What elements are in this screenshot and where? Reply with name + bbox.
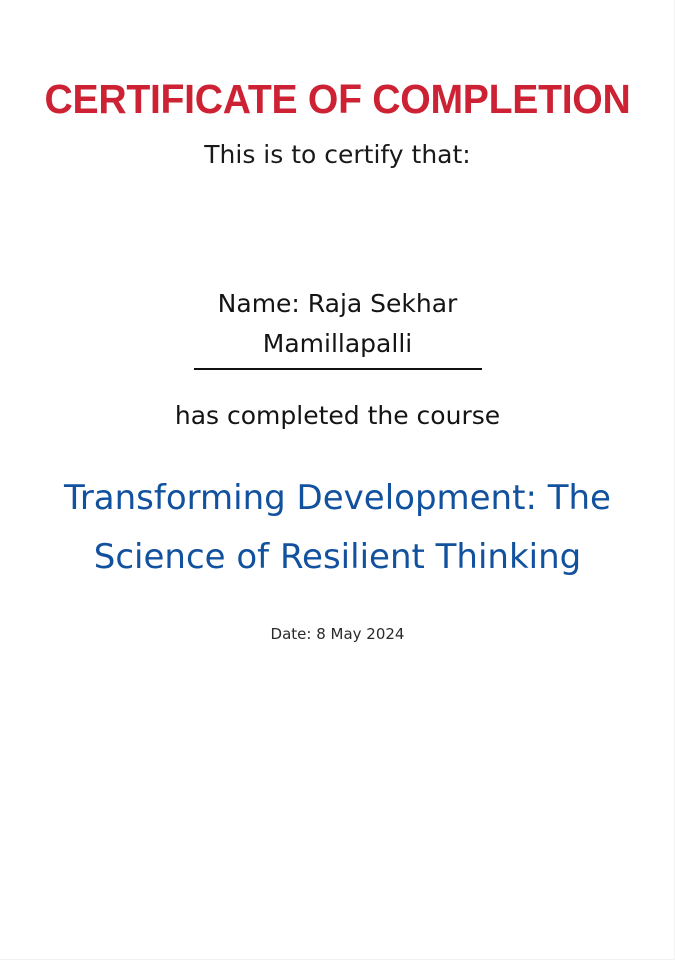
completion-statement: has completed the course — [0, 370, 675, 432]
logo-placeholder — [0, 172, 675, 284]
certificate-body: CERTIFICATE OF COMPLETION This is to cer… — [0, 0, 675, 644]
course-title: Transforming Development: The Science of… — [38, 432, 638, 587]
recipient-name-block: Name: Raja Sekhar Mamillapalli — [194, 284, 482, 370]
issue-date: Date: 8 May 2024 — [0, 587, 675, 644]
page-title: CERTIFICATE OF COMPLETION — [15, 0, 660, 124]
recipient-name: Name: Raja Sekhar Mamillapalli — [194, 284, 482, 364]
certificate-subtitle: This is to certify that: — [0, 124, 675, 172]
certificate-page: CERTIFICATE OF COMPLETION This is to cer… — [0, 0, 675, 960]
